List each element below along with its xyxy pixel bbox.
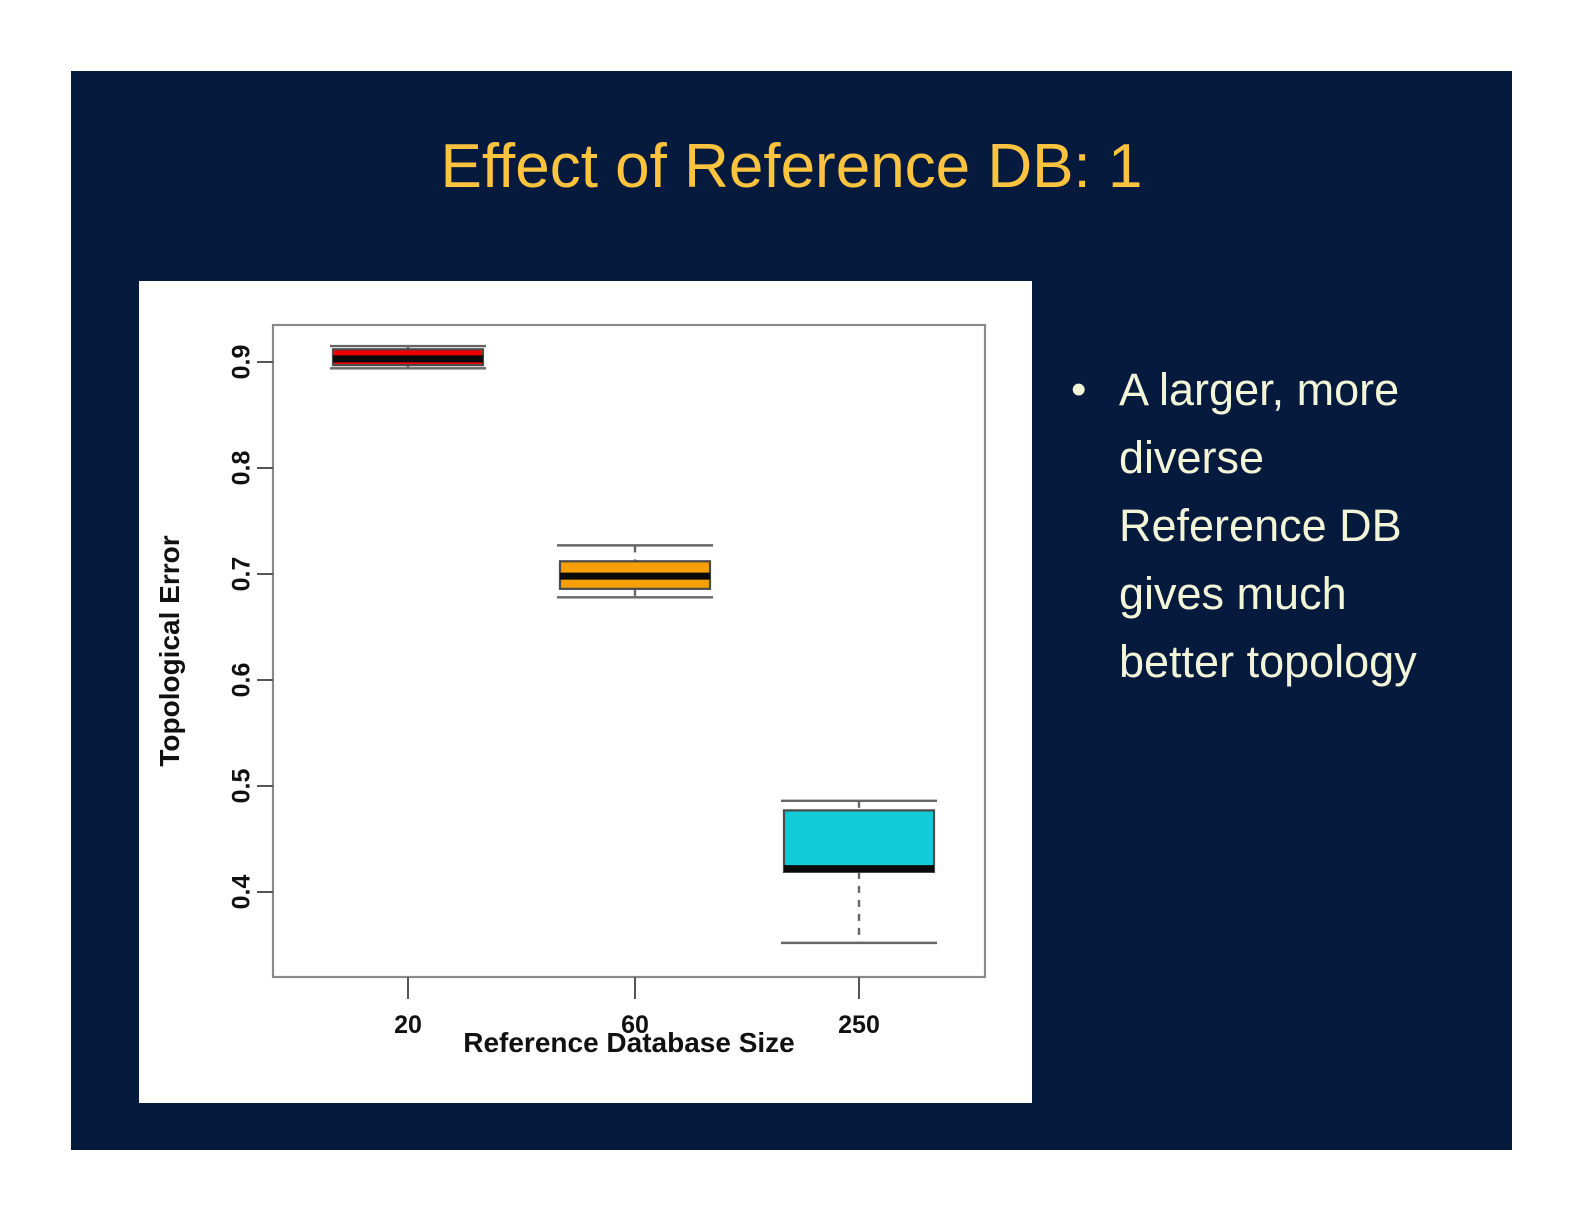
- x-axis-title: Reference Database Size: [463, 1027, 795, 1058]
- boxplot-box: [330, 346, 486, 368]
- plot-frame: [273, 325, 985, 977]
- boxplot-chart: 0.90.80.70.60.50.4 Topological Error 206…: [139, 281, 1032, 1103]
- bullet-list: • A larger, more diverse Reference DB gi…: [1071, 356, 1471, 696]
- x-tick-label: 20: [394, 1011, 422, 1039]
- y-tick-label: 0.5: [228, 769, 256, 804]
- boxplot-box: [781, 801, 937, 943]
- boxplot-series: [330, 346, 937, 943]
- bullet-item-text: A larger, more diverse Reference DB give…: [1119, 356, 1449, 696]
- y-axis-title: Topological Error: [154, 535, 185, 766]
- presentation-slide: Effect of Reference DB: 1 0.90.80.70.60.…: [71, 71, 1512, 1150]
- y-tick-label: 0.8: [228, 451, 256, 486]
- boxplot-box: [557, 545, 713, 597]
- y-axis: 0.90.80.70.60.50.4: [228, 345, 273, 910]
- chart-panel: 0.90.80.70.60.50.4 Topological Error 206…: [139, 281, 1032, 1103]
- y-tick-label: 0.9: [228, 345, 256, 380]
- box-rect: [784, 810, 934, 871]
- y-tick-label: 0.7: [228, 557, 256, 592]
- y-tick-label: 0.4: [228, 875, 256, 910]
- x-tick-label: 250: [838, 1011, 880, 1039]
- bullet-marker-icon: •: [1071, 356, 1119, 424]
- page-title: Effect of Reference DB: 1: [71, 131, 1512, 202]
- y-tick-label: 0.6: [228, 663, 256, 698]
